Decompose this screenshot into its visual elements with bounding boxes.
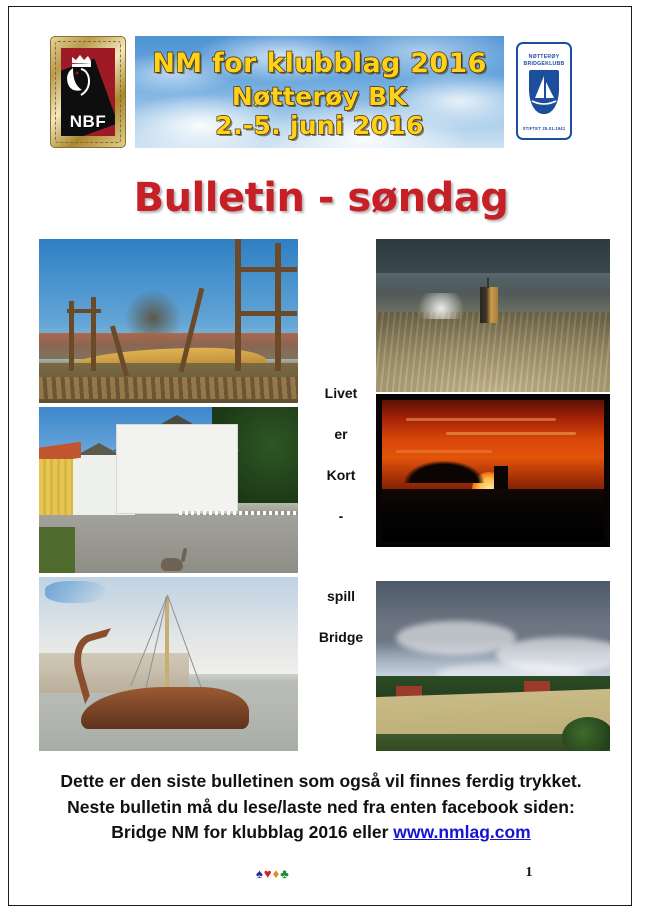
photo5-tree-silhouette bbox=[404, 461, 484, 483]
bottom-note-line-1: Dette er den siste bulletinen som også v… bbox=[9, 769, 633, 795]
banner-line-dates: 2.-5. juni 2016 bbox=[135, 113, 504, 140]
photo3-mast bbox=[165, 597, 169, 693]
nbf-crest-text: NBF bbox=[61, 112, 115, 132]
sailboat-icon bbox=[529, 70, 559, 114]
crowned-king-icon bbox=[67, 51, 101, 97]
bottom-note-line-3: Bridge NM for klubblag 2016 eller www.nm… bbox=[9, 820, 633, 846]
spade-suit-icon: ♠ bbox=[256, 867, 264, 880]
photo2-house-yellow bbox=[39, 459, 73, 517]
photo1-post-cross bbox=[67, 309, 101, 313]
slogan-line-1: Livet bbox=[305, 385, 377, 401]
tournament-banner: NM for klubblag 2016 Nøtterøy BK 2.-5. j… bbox=[135, 36, 504, 148]
page-title: Bulletin - søndag bbox=[9, 175, 633, 221]
notteroy-bridgeklubb-logo: NØTTERØY BRIDGEKLUBB STIFTET 25.01.1941 bbox=[514, 37, 598, 147]
nbf-crest-field: NBF bbox=[61, 48, 115, 136]
photo6-bush bbox=[562, 717, 610, 751]
banner-line-title: NM for klubblag 2016 bbox=[135, 50, 504, 79]
slogan-line-6: spill bbox=[305, 588, 377, 604]
club-suit-icon: ♣ bbox=[280, 867, 290, 880]
photo4-frosted-trees bbox=[412, 293, 470, 319]
club-logo-line1: NØTTERØY bbox=[518, 54, 570, 60]
photo-farmland bbox=[376, 581, 610, 751]
nbf-crest-logo: NBF bbox=[50, 36, 126, 148]
slogan-column: Livet er Kort - spill Bridge bbox=[305, 385, 377, 645]
photo5-ridge bbox=[382, 489, 604, 541]
slogan-line-5-blank bbox=[305, 549, 377, 563]
page-number: 1 bbox=[509, 865, 549, 881]
photo4-hill bbox=[376, 312, 610, 392]
photo5-cloud-streak-3 bbox=[396, 450, 492, 453]
slogan-line-3: Kort bbox=[305, 467, 377, 483]
banner-line-club: Nøtterøy BK bbox=[135, 84, 504, 111]
club-logo-founded: STIFTET 25.01.1941 bbox=[518, 126, 570, 131]
photo-viking-ship-construction bbox=[39, 239, 298, 403]
photo2-house-main bbox=[117, 425, 237, 513]
bottom-note-line-3-prefix: Bridge NM for klubblag 2016 eller bbox=[111, 822, 393, 842]
tournament-banner-lines: NM for klubblag 2016 Nøtterøy BK 2.-5. j… bbox=[135, 50, 504, 140]
photo4-tower bbox=[480, 287, 498, 323]
bottom-note: Dette er den siste bulletinen som også v… bbox=[9, 769, 633, 846]
photo3-blue-sky-patch bbox=[45, 581, 105, 603]
card-suits-decoration: ♠♥♦♣ bbox=[256, 867, 290, 880]
nmlag-link[interactable]: www.nmlag.com bbox=[393, 822, 530, 842]
diamond-suit-icon: ♦ bbox=[273, 867, 281, 880]
club-logo-line2: BRIDGEKLUBB bbox=[518, 61, 570, 67]
photo2-cat bbox=[161, 558, 183, 571]
slogan-line-2: er bbox=[305, 426, 377, 442]
photo1-scaffold-3 bbox=[235, 267, 297, 272]
photo1-scaffold-1 bbox=[235, 239, 241, 371]
photo-sunset-tower bbox=[376, 394, 610, 547]
slogan-line-4: - bbox=[305, 508, 377, 524]
photo1-scaffold-2 bbox=[275, 243, 281, 371]
photo5-cloud-streak-1 bbox=[406, 418, 556, 421]
photo1-scaffold-4 bbox=[235, 311, 297, 316]
playing-card-front: NØTTERØY BRIDGEKLUBB STIFTET 25.01.1941 bbox=[516, 42, 572, 140]
slogan-line-7: Bridge bbox=[305, 629, 377, 645]
photo-viking-ship-water bbox=[39, 577, 298, 751]
bulletin-page: NBF NM for klubblag 2016 Nøtterøy BK 2.-… bbox=[8, 6, 632, 906]
photo1-logs bbox=[39, 377, 298, 399]
heart-suit-icon: ♥ bbox=[264, 867, 273, 880]
bottom-note-line-2: Neste bulletin må du lese/laste ned fra … bbox=[9, 795, 633, 821]
photo-frozen-hill-tower bbox=[376, 239, 610, 392]
page-header: NBF NM for klubblag 2016 Nøtterøy BK 2.-… bbox=[9, 7, 633, 167]
photo-village-street bbox=[39, 407, 298, 573]
photo2-grass bbox=[39, 527, 75, 573]
photo5-cloud-streak-2 bbox=[446, 432, 576, 435]
